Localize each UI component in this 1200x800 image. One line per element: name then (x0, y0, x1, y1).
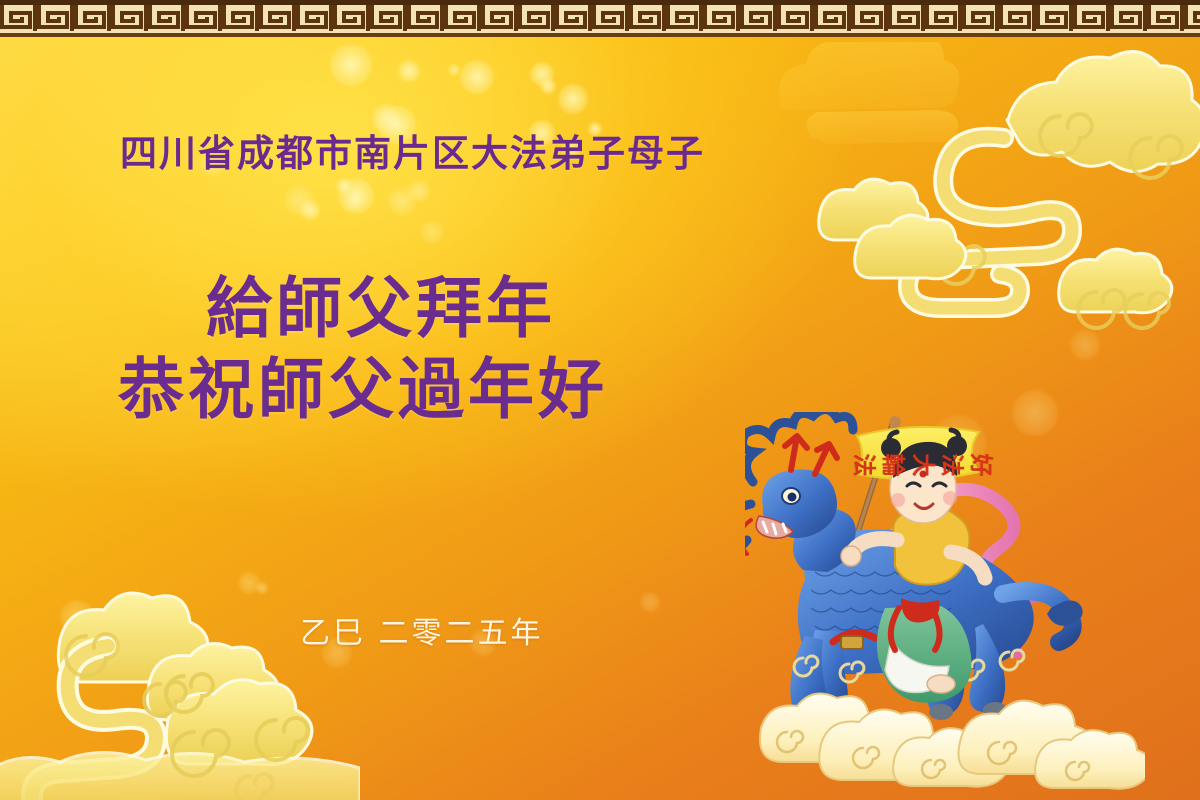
sender-line: 四川省成都市南片区大法弟子母子 (120, 133, 705, 174)
bokeh-dot (238, 572, 260, 594)
bokeh-dot (398, 60, 420, 82)
bokeh-dot (558, 84, 588, 114)
bokeh-dot (530, 62, 554, 86)
bokeh-dot (1070, 330, 1100, 360)
new-year-greeting-card: 四川省成都市南片区大法弟子母子 給師父拜年 恭祝師父過年好 乙巳 二零二五年 (0, 0, 1200, 800)
bokeh-dot (256, 582, 268, 594)
bokeh-dot (540, 78, 556, 94)
flag-char: 好 (967, 454, 1001, 477)
bokeh-dot (345, 193, 363, 211)
bokeh-dot (372, 104, 400, 132)
bokeh-dot (330, 44, 372, 86)
greeting-block: 給師父拜年 恭祝師父過年好 (118, 268, 608, 429)
bokeh-dot (640, 592, 660, 612)
bokeh-dot (60, 600, 94, 634)
bokeh-dot (284, 185, 314, 215)
greeting-line-1: 給師父拜年 (118, 268, 608, 349)
cloud-top-right (760, 42, 1200, 342)
date-stamp: 乙巳 二零二五年 (300, 608, 544, 652)
bokeh-dot (460, 60, 494, 94)
bokeh-dot (300, 200, 320, 220)
greeting-line-2: 恭祝師父過年好 (118, 349, 608, 430)
bokeh-dot (420, 220, 444, 244)
meander-border (0, 0, 1200, 37)
bokeh-dot (336, 178, 352, 194)
bokeh-dot (448, 64, 460, 76)
bokeh-dot (338, 178, 374, 214)
bokeh-dot (388, 187, 416, 215)
bokeh-dot (408, 180, 430, 202)
flag-text: 法 輪 大 法 好 (855, 437, 995, 493)
cloud-bottom-left (0, 570, 360, 800)
